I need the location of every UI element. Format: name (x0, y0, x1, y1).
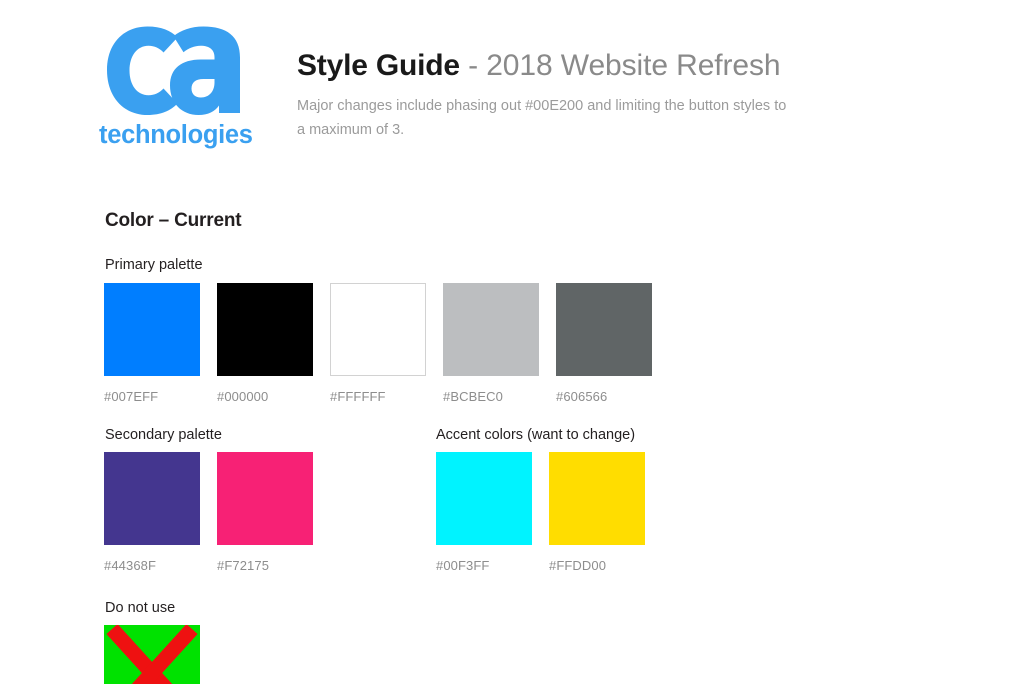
page-subtitle: Major changes include phasing out #00E20… (297, 94, 797, 142)
page-title: Style Guide - 2018 Website Refresh (297, 46, 937, 86)
swatch-cell[interactable]: #FFDD00 (549, 452, 645, 573)
page-title-muted: - 2018 Website Refresh (460, 49, 781, 82)
swatch-hex-label: #F72175 (217, 558, 313, 573)
swatch-cell[interactable]: #FFFFFF (330, 283, 426, 404)
ca-logo-icon (99, 24, 251, 118)
group-label-accent: Accent colors (want to change) (436, 427, 635, 443)
color-swatch-deprecated[interactable] (104, 625, 200, 684)
swatch-cell[interactable]: #BCBEC0 (443, 283, 539, 404)
section-heading-color-current: Color – Current (105, 210, 241, 232)
group-label-primary: Primary palette (105, 257, 203, 273)
group-label-do-not-use: Do not use (105, 600, 175, 616)
swatch-hex-label: #BCBEC0 (443, 389, 539, 404)
color-swatch[interactable] (436, 452, 532, 545)
swatch-hex-label: #000000 (217, 389, 313, 404)
swatch-cell[interactable]: #00F3FF (436, 452, 532, 573)
swatch-hex-label: #007EFF (104, 389, 200, 404)
swatch-cell[interactable]: #000000 (217, 283, 313, 404)
swatch-hex-label: #FFDD00 (549, 558, 645, 573)
color-swatch[interactable] (330, 283, 426, 376)
title-block: Style Guide - 2018 Website Refresh Major… (297, 46, 937, 142)
swatch-hex-label: #606566 (556, 389, 652, 404)
page-title-strong: Style Guide (297, 49, 460, 82)
swatch-hex-label: #00F3FF (436, 558, 532, 573)
color-swatch[interactable] (217, 452, 313, 545)
do-not-use-row (104, 625, 200, 684)
color-swatch[interactable] (217, 283, 313, 376)
swatch-cell[interactable]: #007EFF (104, 283, 200, 404)
color-swatch[interactable] (104, 452, 200, 545)
brand-wordmark: technologies (99, 123, 251, 149)
accent-palette-row: #00F3FF #FFDD00 (436, 452, 645, 573)
page-header: technologies Style Guide - 2018 Website … (0, 0, 1014, 180)
swatch-hex-label: #FFFFFF (330, 389, 426, 404)
swatch-cell[interactable]: #606566 (556, 283, 652, 404)
color-swatch[interactable] (443, 283, 539, 376)
swatch-cell-do-not-use[interactable] (104, 625, 200, 684)
primary-palette-row: #007EFF #000000 #FFFFFF #BCBEC0 #606566 (104, 283, 652, 404)
color-swatch[interactable] (556, 283, 652, 376)
brand-logo: technologies (99, 24, 251, 149)
swatch-cell[interactable]: #44368F (104, 452, 200, 573)
secondary-palette-row: #44368F #F72175 (104, 452, 313, 573)
red-x-icon (104, 625, 200, 684)
swatch-hex-label: #44368F (104, 558, 200, 573)
color-swatch[interactable] (549, 452, 645, 545)
color-swatch[interactable] (104, 283, 200, 376)
group-label-secondary: Secondary palette (105, 427, 222, 443)
swatch-cell[interactable]: #F72175 (217, 452, 313, 573)
